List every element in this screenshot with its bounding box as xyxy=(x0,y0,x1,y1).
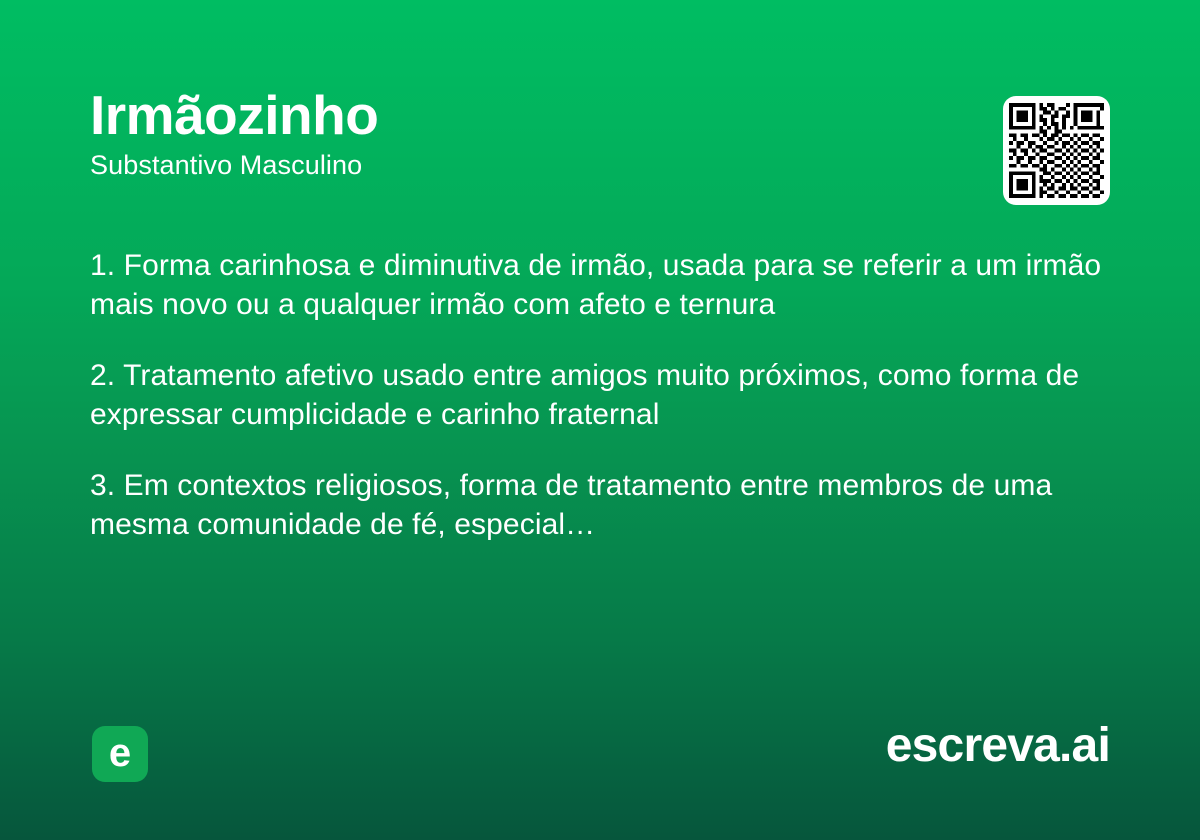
word-class-subtitle: Substantivo Masculino xyxy=(90,150,970,181)
qr-code-card[interactable] xyxy=(1003,96,1110,205)
page-title: Irmãozinho xyxy=(90,86,970,144)
definition-list: 1. Forma carinhosa e diminutiva de irmão… xyxy=(90,246,1120,544)
qr-code-icon xyxy=(1009,102,1104,199)
definition-item: 2. Tratamento afetivo usado entre amigos… xyxy=(90,356,1120,434)
dictionary-card: Irmãozinho Substantivo Masculino 1. Form… xyxy=(0,0,1200,840)
card-header: Irmãozinho Substantivo Masculino xyxy=(90,86,970,181)
definition-item: 3. Em contextos religiosos, forma de tra… xyxy=(90,466,1120,544)
definition-item: 1. Forma carinhosa e diminutiva de irmão… xyxy=(90,246,1120,324)
brand-logo-mark: e xyxy=(92,726,148,782)
brand-logo-letter: e xyxy=(109,733,131,773)
brand-wordmark: escreva.ai xyxy=(886,722,1110,770)
